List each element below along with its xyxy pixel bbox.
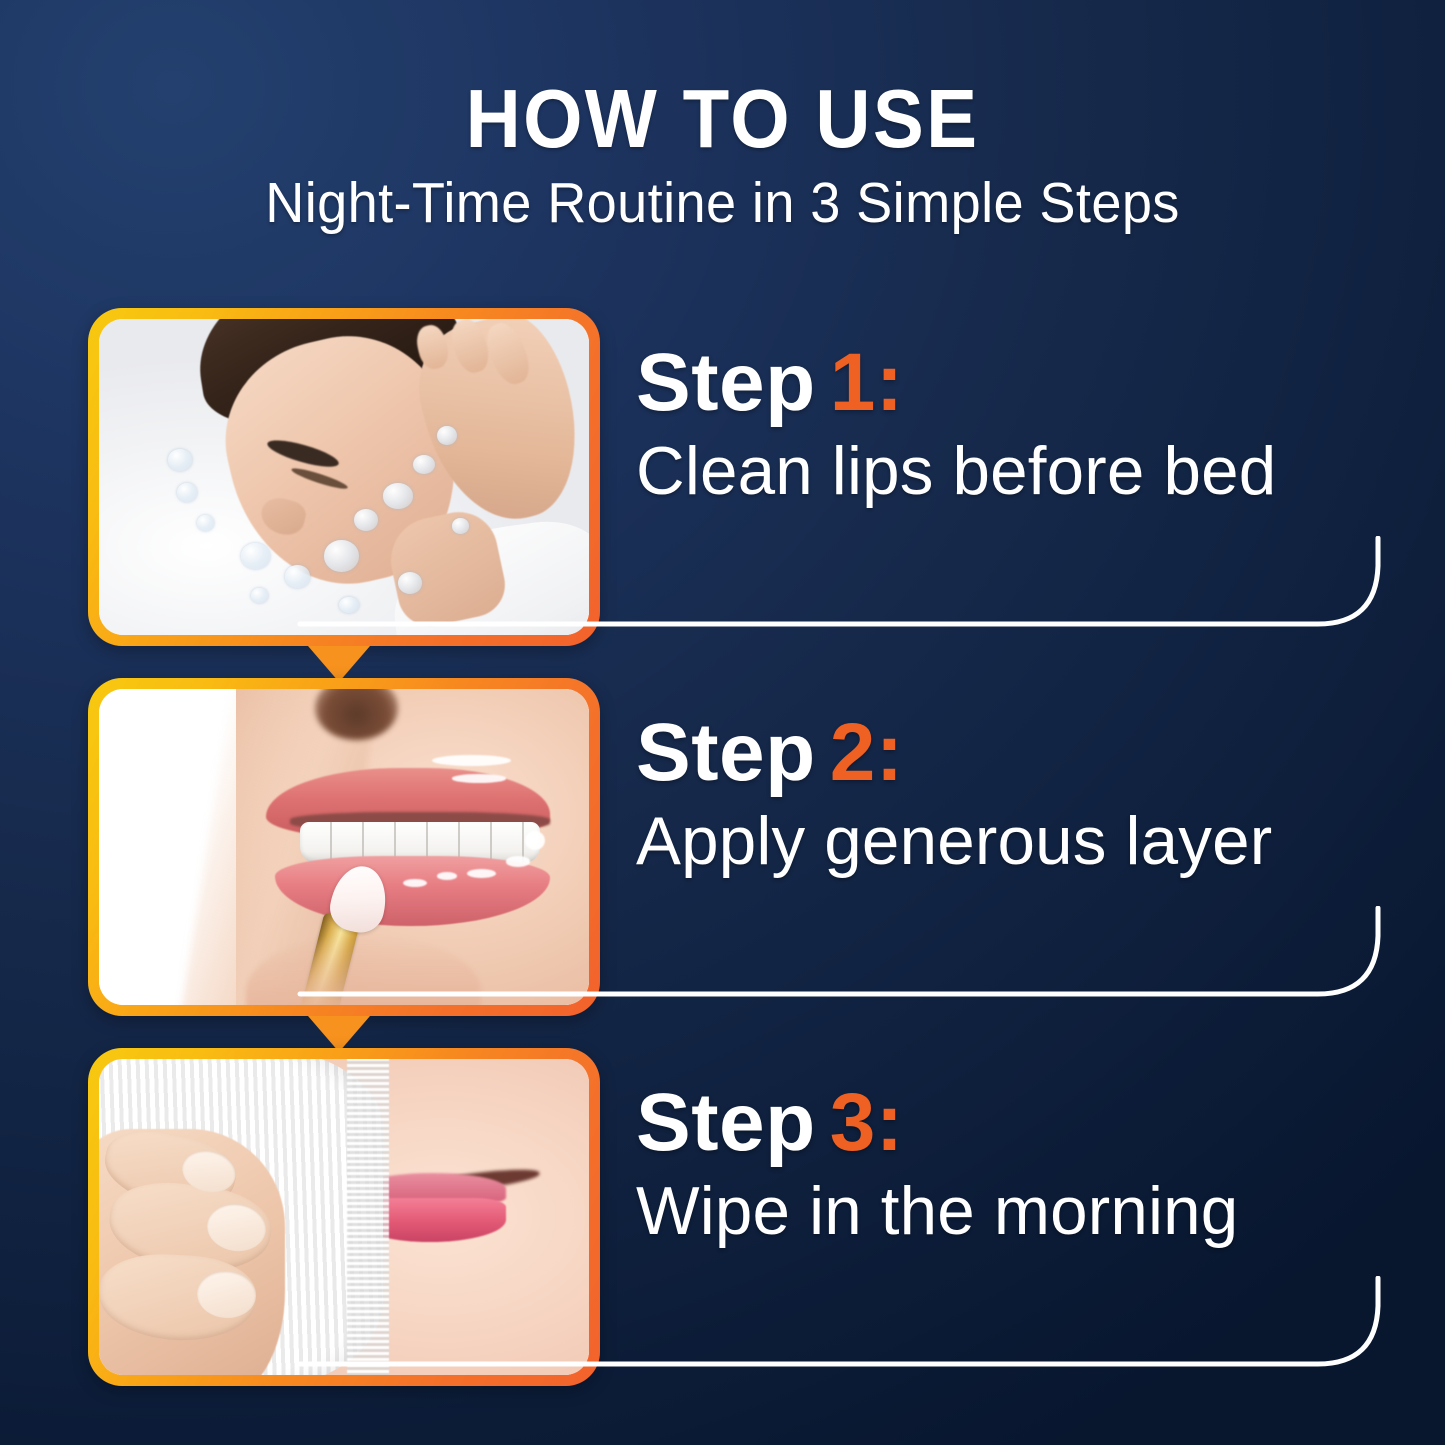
step-3-text: Step3: Wipe in the morning xyxy=(636,1082,1376,1247)
step-3-description: Wipe in the morning xyxy=(636,1176,1369,1247)
down-arrow-icon-1 xyxy=(308,646,370,682)
step-2-photo xyxy=(99,689,589,1005)
step-3-heading: Step3: xyxy=(636,1082,1376,1164)
step-2-text: Step2: Apply generous layer xyxy=(636,712,1376,877)
step-1-label: Step xyxy=(636,337,816,428)
step-1-heading: Step1: xyxy=(636,342,1376,424)
step-row-2: Step2: Apply generous layer xyxy=(0,678,1445,1016)
step-3-label: Step xyxy=(636,1077,816,1168)
step-row-3: Step3: Wipe in the morning xyxy=(0,1048,1445,1386)
step-1-text: Step1: Clean lips before bed xyxy=(636,342,1376,507)
step-1-description: Clean lips before bed xyxy=(636,436,1369,507)
step-1-photo xyxy=(99,319,589,635)
step-2-heading: Step2: xyxy=(636,712,1376,794)
step-3-image-card xyxy=(88,1048,600,1386)
down-arrow-icon-2 xyxy=(308,1016,370,1052)
step-3-photo xyxy=(99,1059,589,1375)
step-2-description: Apply generous layer xyxy=(636,806,1369,877)
page-title: HOW TO USE xyxy=(58,78,1387,159)
step-3-number: 3: xyxy=(830,1077,904,1168)
step-1-number: 1: xyxy=(830,337,904,428)
step-row-1: Step1: Clean lips before bed xyxy=(0,308,1445,646)
step-2-label: Step xyxy=(636,707,816,798)
washing-face-illustration xyxy=(99,319,589,635)
step-2-image-card xyxy=(88,678,600,1016)
towel-wipe-illustration xyxy=(99,1059,589,1375)
how-to-use-infographic: HOW TO USE Night-Time Routine in 3 Simpl… xyxy=(0,0,1445,1445)
step-2-number: 2: xyxy=(830,707,904,798)
page-subtitle: Night-Time Routine in 3 Simple Steps xyxy=(36,175,1409,232)
step-1-image-card xyxy=(88,308,600,646)
lip-applicator-illustration xyxy=(99,689,589,1005)
header: HOW TO USE Night-Time Routine in 3 Simpl… xyxy=(0,78,1445,232)
